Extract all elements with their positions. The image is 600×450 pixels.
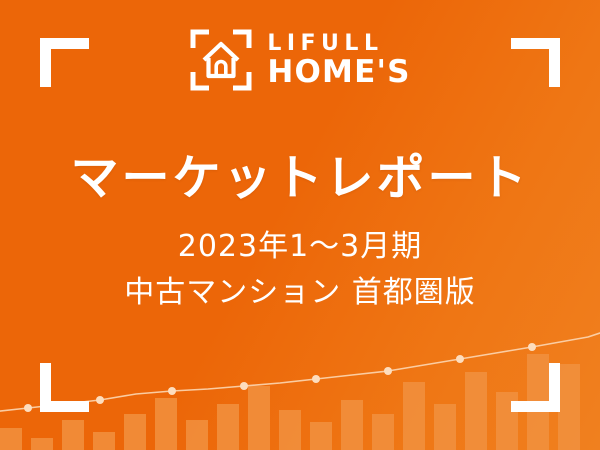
brand-wordmark: LIFULL HOME'S [267,33,410,88]
house-in-frame-icon [189,28,253,92]
brand-name-homes: HOME'S [267,57,410,88]
corner-bracket-bottom-right [511,363,560,412]
report-period: 2023年1〜3月期 [0,229,600,265]
brand-logo: LIFULL HOME'S [0,28,600,92]
chart-line-markers [24,343,536,412]
report-segment: 中古マンション 首都圏版 [0,275,600,311]
cover-titles: マーケットレポート 2023年1〜3月期 中古マンション 首都圏版 [0,150,600,311]
report-cover: LIFULL HOME'S マーケットレポート 2023年1〜3月期 中古マンシ… [0,0,600,450]
corner-bracket-bottom-left [40,363,89,412]
brand-name-lifull: LIFULL [267,33,410,55]
page-title: マーケットレポート [0,150,600,207]
